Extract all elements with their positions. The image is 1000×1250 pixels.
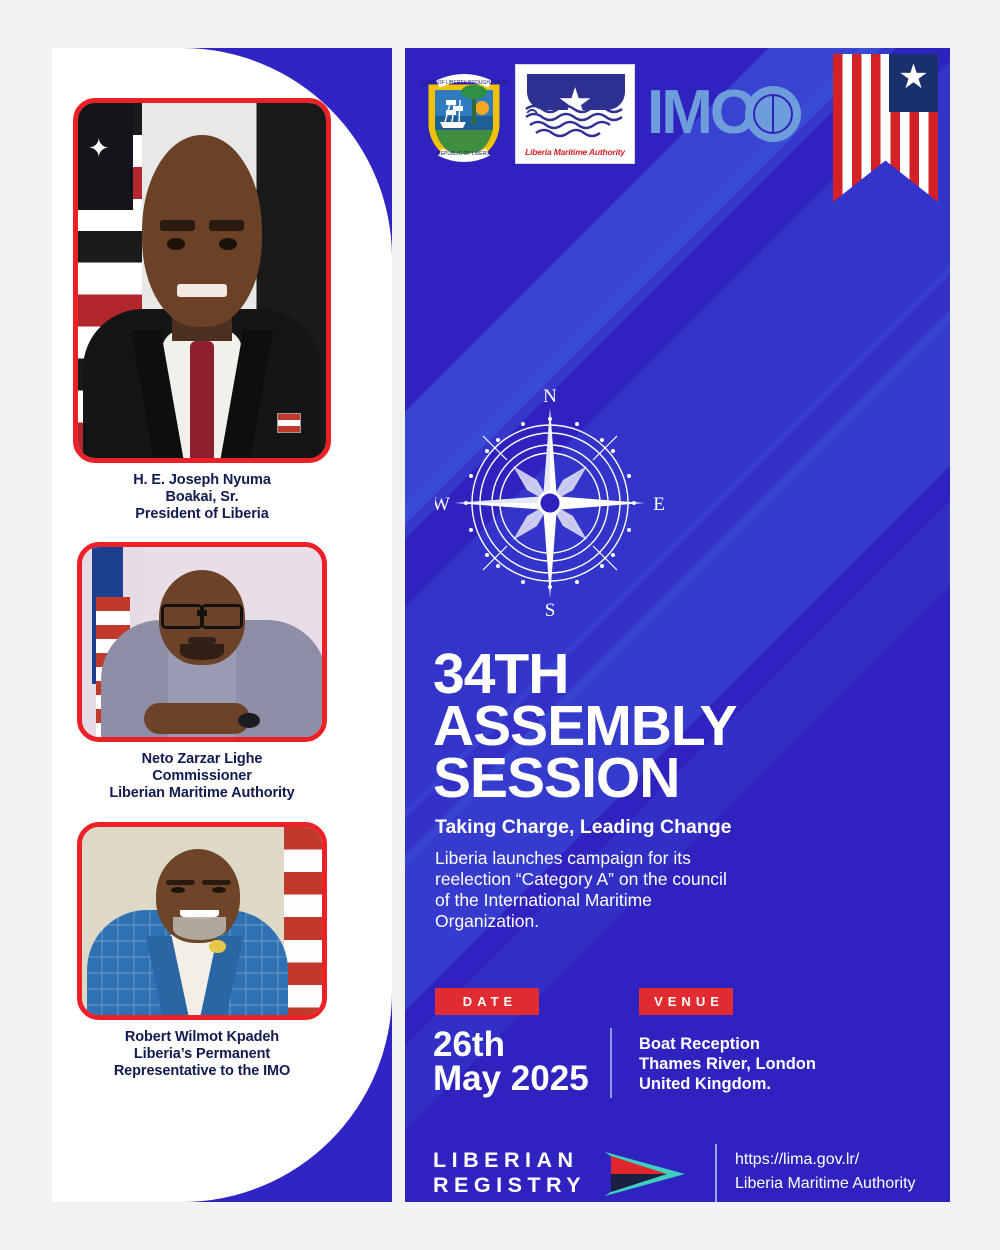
liberia-maritime-authority-logo: ★ Liberia Maritime Authority (515, 64, 635, 164)
caption-commissioner: Neto Zarzar Lighe Commissioner Liberian … (109, 751, 294, 801)
date-venue-divider (610, 1028, 612, 1098)
caption-representative: Robert Wilmot Kpadeh Liberia’s Permanent… (114, 1029, 290, 1079)
registry-line-1: LIBERIAN (433, 1148, 586, 1173)
compass-label-south: S (545, 600, 556, 618)
registry-line-2: REGISTRY (433, 1173, 586, 1198)
date-badge: DATE (435, 988, 539, 1015)
title-line-3: SESSION (433, 752, 736, 804)
footer-divider (715, 1144, 717, 1202)
imo-wordmark-text: IMO (647, 78, 755, 147)
liberia-flag-ribbon-icon: ★ (833, 54, 938, 202)
footer-contact: https://lima.gov.lr/ Liberia Maritime Au… (735, 1148, 916, 1196)
compass-label-north: N (543, 388, 557, 407)
event-date-line-2: May 2025 (433, 1062, 589, 1096)
person-card: Neto Zarzar Lighe Commissioner Liberian … (73, 542, 331, 801)
description-text: Liberia launches campaign for its reelec… (435, 848, 745, 932)
compass-rose-icon: N S W E (435, 388, 665, 618)
caption-president: H. E. Joseph Nyuma Boakai, Sr. President… (133, 472, 271, 522)
event-venue: Boat Reception Thames River, London Unit… (639, 1034, 816, 1094)
portrait-photo-commissioner (77, 542, 327, 742)
portrait-column: ✦ (52, 48, 352, 1202)
tagline: Taking Charge, Leading Change (435, 816, 732, 839)
person-card: Robert Wilmot Kpadeh Liberia’s Permanent… (73, 822, 331, 1079)
liberia-coat-of-arms-icon: THE LOVE OF LIBERTY BROUGHT US HERE REPU… (420, 60, 508, 164)
footer-organization: Liberia Maritime Authority (735, 1172, 916, 1196)
event-date-line-1: 26th (433, 1028, 589, 1062)
event-venue-line-3: United Kingdom. (639, 1074, 816, 1094)
coat-motto-top: THE LOVE OF LIBERTY BROUGHT US HERE (420, 80, 508, 86)
compass-label-east: E (653, 494, 665, 515)
imo-globe-icon (745, 86, 801, 142)
logo-row: THE LOVE OF LIBERTY BROUGHT US HERE REPU… (415, 54, 950, 184)
portrait-photo-representative (77, 822, 327, 1020)
liberian-registry-arrow-icon (605, 1146, 687, 1202)
event-date: 26th May 2025 (433, 1028, 589, 1096)
page-title: 34TH ASSEMBLY SESSION (433, 648, 736, 804)
person-card: ✦ (73, 98, 331, 522)
title-line-1: 34TH (433, 648, 736, 700)
imo-logo: IMO (647, 82, 801, 144)
event-venue-line-2: Thames River, London (639, 1054, 816, 1074)
portrait-photo-president: ✦ (73, 98, 331, 463)
venue-badge: VENUE (639, 988, 733, 1015)
right-panel: THE LOVE OF LIBERTY BROUGHT US HERE REPU… (405, 48, 950, 1202)
liberian-registry-logo: LIBERIAN REGISTRY (433, 1148, 586, 1198)
event-venue-line-1: Boat Reception (639, 1034, 816, 1054)
coat-motto-bottom: REPUBLIC OF LIBERIA (437, 151, 492, 157)
lma-logo-label: Liberia Maritime Authority (516, 147, 634, 157)
title-line-2: ASSEMBLY (433, 700, 736, 752)
footer-url[interactable]: https://lima.gov.lr/ (735, 1148, 916, 1172)
poster-root: ✦ (0, 0, 1000, 1250)
left-panel: ✦ (52, 48, 392, 1202)
compass-label-west: W (435, 494, 450, 515)
